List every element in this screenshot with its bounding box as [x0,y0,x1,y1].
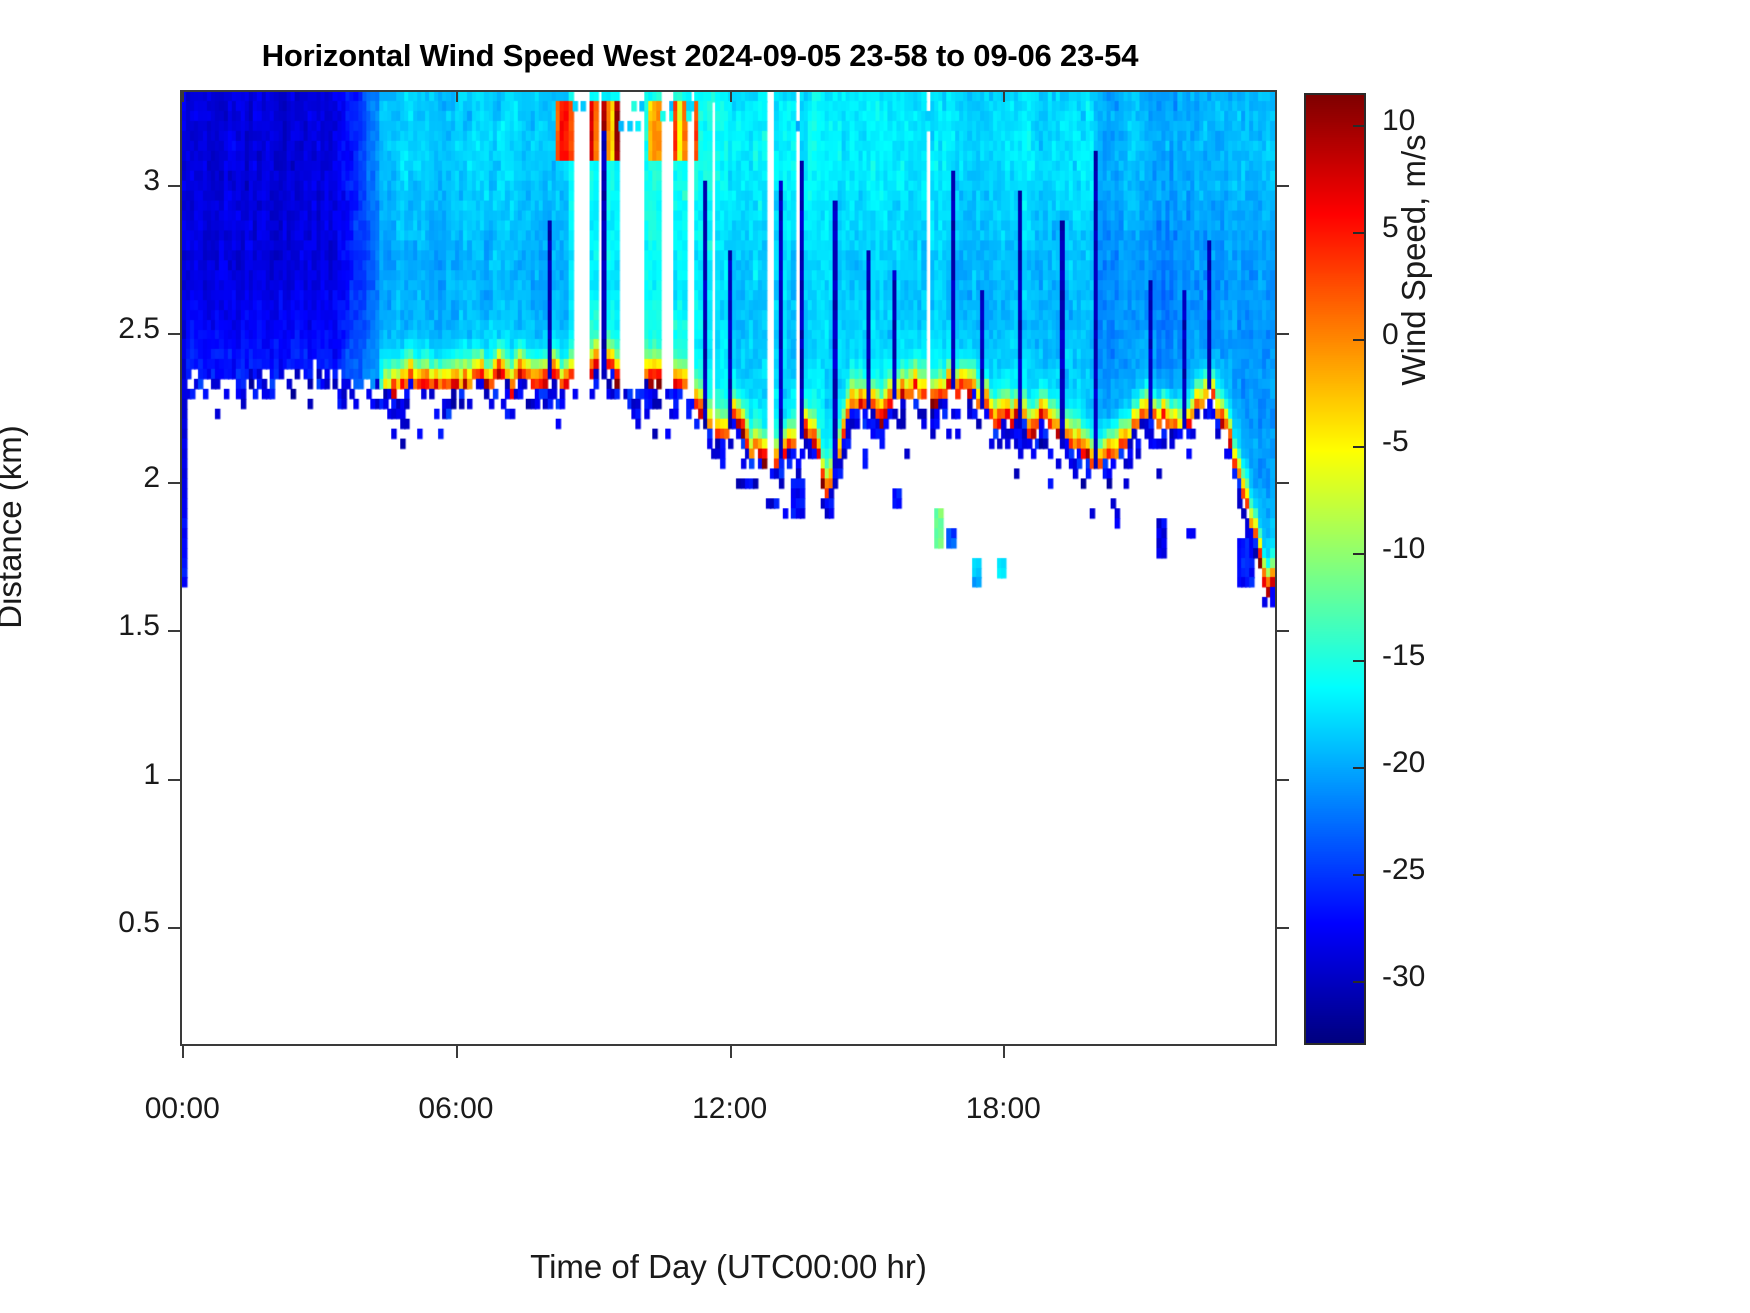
x-tick-label: 06:00 [346,1092,566,1126]
colorbar-gradient [1306,95,1364,1043]
colorbar-tick-mark [1353,553,1366,555]
x-tick-mark-top [730,90,732,102]
y-tick-mark [168,482,180,484]
y-tick-mark-right [1277,779,1289,781]
chart-title: Horizontal Wind Speed West 2024-09-05 23… [0,38,1400,74]
colorbar-tick-mark [1353,981,1366,983]
colorbar [1304,93,1366,1045]
x-tick-mark-top [456,90,458,102]
y-tick-mark [168,630,180,632]
colorbar-tick-label: -15 [1382,639,1425,673]
colorbar-tick-mark [1353,232,1366,234]
x-tick-label: 12:00 [620,1092,840,1126]
y-axis-label: Distance (km) [0,227,29,827]
y-tick-mark-right [1277,630,1289,632]
y-tick-mark [168,779,180,781]
y-tick-mark-right [1277,927,1289,929]
colorbar-tick-mark [1353,125,1366,127]
x-tick-label: 18:00 [893,1092,1113,1126]
colorbar-tick-mark [1353,874,1366,876]
colorbar-tick-label: -20 [1382,746,1425,780]
x-tick-mark [456,1046,458,1058]
x-axis-label: Time of Day (UTC00:00 hr) [180,1248,1277,1286]
colorbar-tick-mark [1353,446,1366,448]
heatmap-image [182,92,1275,1044]
y-tick-mark [168,185,180,187]
y-tick-label: 3 [0,164,160,198]
x-tick-label: 00:00 [72,1092,292,1126]
plot-axes [180,90,1277,1046]
x-tick-mark-top [1003,90,1005,102]
x-tick-mark [730,1046,732,1058]
y-tick-mark-right [1277,185,1289,187]
colorbar-tick-label: -25 [1382,853,1425,887]
x-tick-mark-top [182,90,184,102]
y-tick-mark [168,333,180,335]
colorbar-tick-mark [1353,660,1366,662]
y-tick-mark [168,927,180,929]
figure-canvas: Horizontal Wind Speed West 2024-09-05 23… [0,0,1750,1313]
y-tick-mark-right [1277,482,1289,484]
colorbar-tick-mark [1353,767,1366,769]
x-tick-mark [182,1046,184,1058]
y-tick-label: 0.5 [0,906,160,940]
y-tick-mark-right [1277,333,1289,335]
x-tick-mark [1003,1046,1005,1058]
colorbar-tick-mark [1353,339,1366,341]
colorbar-label: Wind Speed, m/s [1395,0,1433,560]
colorbar-tick-label: -30 [1382,960,1425,994]
